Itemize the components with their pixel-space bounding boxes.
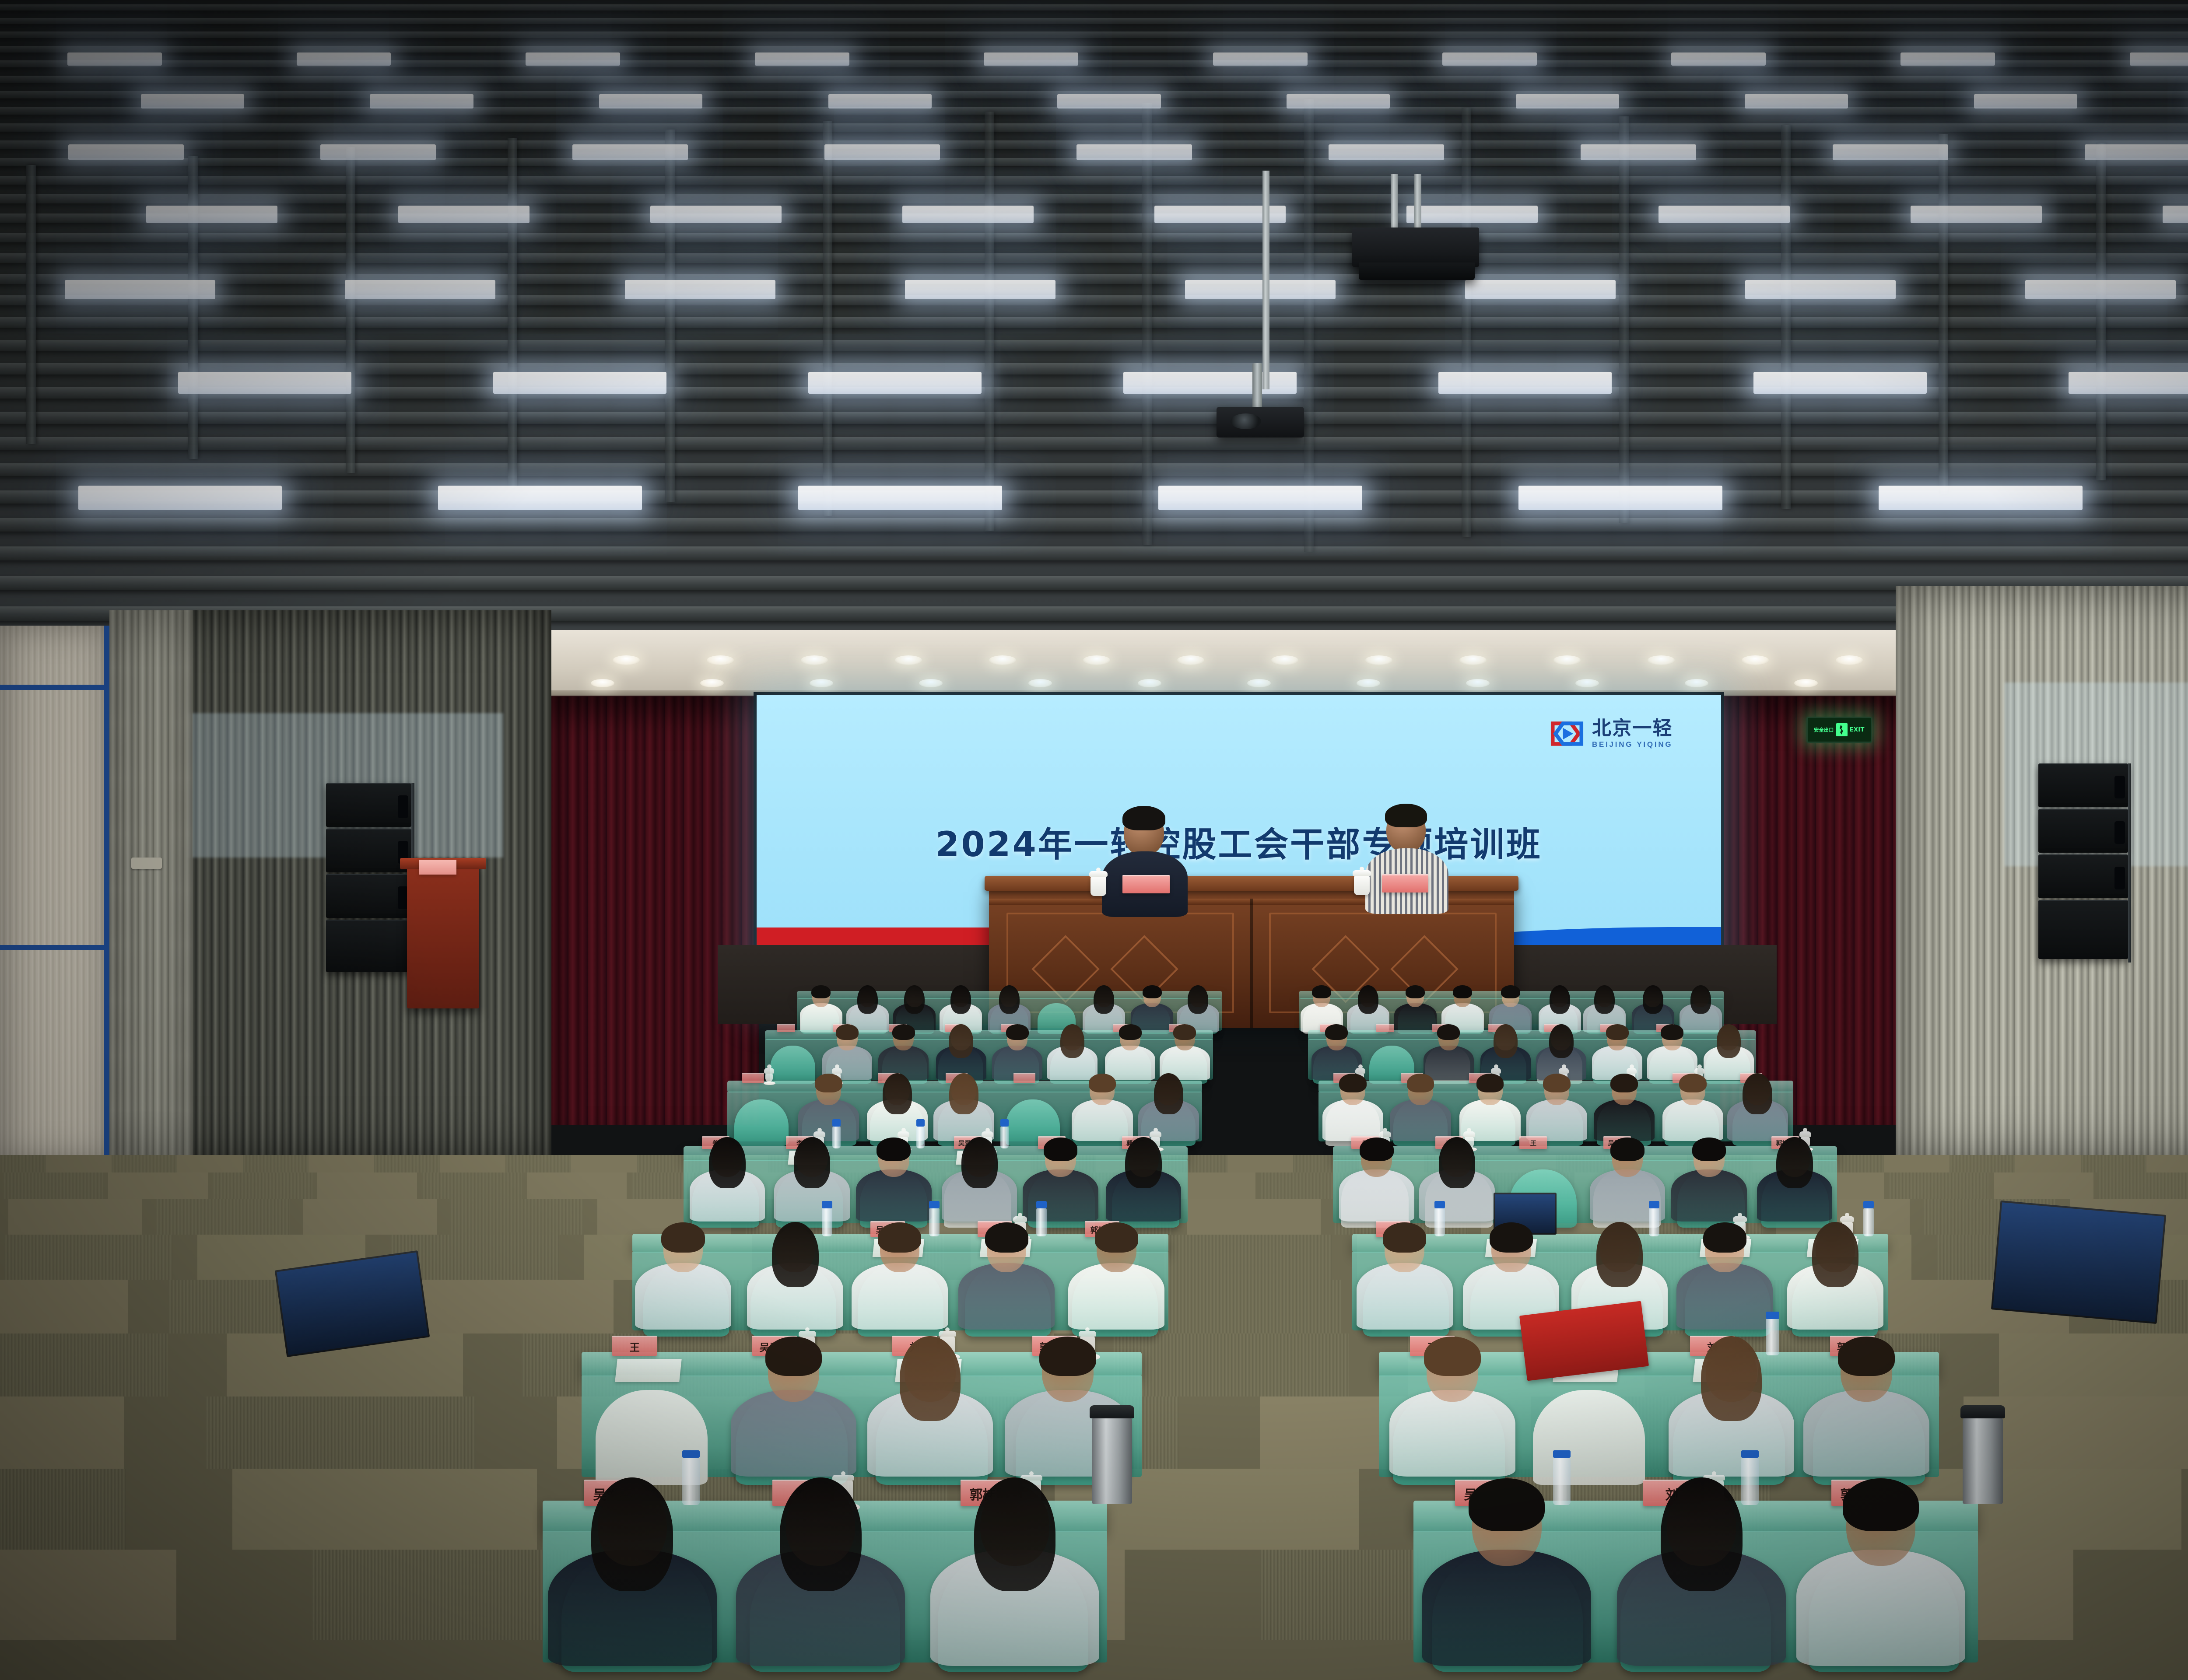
audience-hair [950,985,971,1014]
audience-hair [900,1336,961,1421]
exit-sign-label-en: EXIT [1850,727,1865,733]
ceiling-light-panel [572,144,688,160]
audience-body [1390,1099,1451,1141]
ceiling-light-panel [65,280,216,299]
carpet-tile [8,1199,142,1235]
ceiling-light-panel [1158,486,1362,510]
ceiling-light-panel [370,94,473,108]
teacup-knob [1630,1064,1634,1069]
audience-hair [811,985,831,998]
water-bottle-cap [832,1119,841,1127]
ceiling-slat [0,194,2188,203]
water-bottle-cap [916,1119,925,1127]
thermos-cap [1090,1405,1134,1418]
left-wall-blue-trim-top [0,685,109,690]
carpet-tile [4,1235,172,1279]
audience-hair [1006,1024,1029,1040]
ceiling-rib [26,165,36,444]
carpet-tile [177,1155,243,1172]
carpet-tile [232,1469,537,1550]
carpet-tile [3,1172,103,1199]
ceiling-slat [0,46,2188,53]
ceiling-slat [0,576,2188,590]
audience-body [1424,1046,1474,1080]
soffit-downlight [1357,679,1380,687]
audience-body [958,1263,1055,1330]
water-bottle [1741,1457,1759,1505]
water-bottle-cap [1000,1119,1009,1127]
audience-hair [1543,1074,1571,1093]
chair-white-cover [1533,1390,1645,1485]
audience-hair [1325,1024,1348,1040]
audience-hair [878,1222,921,1253]
water-bottle [1649,1207,1659,1236]
carpet-tile [1164,1235,1332,1279]
water-bottle [832,1126,841,1148]
carpet-tile [46,1155,112,1172]
audience-body [852,1263,948,1330]
carpet-tile [213,1172,312,1199]
ceiling-light-panel [146,206,277,223]
audience-hair [1703,1222,1746,1253]
carpet-tile [1113,1333,1349,1396]
teacup-knob [945,1327,950,1332]
speaker-stack-right [2038,763,2128,1008]
audience-body [1357,1263,1453,1330]
ceiling-light-panel [1518,486,1722,510]
audience-hair [772,1222,818,1287]
audience-body [1023,1169,1098,1221]
teacup-knob [1029,1471,1034,1476]
carpet-tile [440,1155,505,1172]
audience-hair [1439,1137,1475,1188]
thermos-flask [1092,1417,1132,1504]
speaker-stack-left [326,783,411,1028]
carpet-tile [1227,1155,1293,1172]
ceiling-light-panel [1753,372,1926,394]
teacup-lid [1840,1216,1854,1222]
teacup-knob [805,1327,810,1332]
yiqing-logo-mark [1550,717,1584,751]
curtain-tieback-left [131,857,162,869]
ceiling-rib [508,138,517,488]
ceiling-slat [0,18,2188,24]
water-bottle-cap [1649,1201,1659,1208]
teacup-lid [1733,1216,1747,1222]
presenter-placard-left [1122,875,1170,893]
audience-hair [1812,1222,1858,1287]
teacup-lid [1799,1131,1811,1137]
ceiling-light-panel [1076,144,1192,160]
teacup-knob [1697,1064,1702,1069]
ceiling-slat [0,233,2188,242]
soffit-downlight [1459,655,1487,665]
water-bottle [1553,1457,1571,1505]
audience-hair [1154,1073,1183,1114]
ceiling-light-panel [398,206,529,223]
teacup-lid [982,1131,993,1137]
audience-table [765,1030,1213,1040]
audience-hair [709,1137,745,1188]
audience-hair [857,985,878,1014]
audience-hair [1594,985,1615,1014]
carpet-tile [243,1155,309,1172]
ceiling-light-panel [493,372,666,394]
audience-hair [1453,985,1472,998]
ceiling-light-panel [1438,372,1611,394]
podium-seam [1250,899,1253,1028]
soffit-downlight [989,655,1016,665]
ceiling-light-panel [2025,280,2176,299]
soffit-downlight [613,655,640,665]
left-wall-blue-trim-bottom [0,945,109,950]
ceiling-slat [0,123,2188,131]
audience-hair [892,1024,915,1040]
audience-hair [794,1137,830,1188]
ceiling-light-panel [2085,144,2188,160]
ceiling-light-panel [984,52,1078,66]
audience-hair [1383,1222,1426,1253]
water-bottle-cap [1434,1201,1445,1208]
audience-hair [1060,1024,1085,1058]
audience-hair [1490,1222,1533,1253]
water-bottle [1000,1126,1009,1148]
ceiling-rib [1142,103,1152,545]
soffit-downlight [591,679,614,687]
ceiling-rib [2096,143,2106,480]
carpet-tile [0,1280,128,1333]
ceiling-light-panel [905,280,1056,299]
ceiling-rib [188,156,198,459]
carpet-tile [1994,1172,2093,1199]
soffit-downlight [919,679,943,687]
presenter-placard-right [1382,874,1428,892]
chair [770,1046,815,1084]
water-bottle-cap [929,1201,940,1208]
ceiling [0,0,2188,656]
teacup-knob [1562,1064,1566,1069]
teacup-knob [1085,1327,1090,1332]
ceiling-light-panel [141,94,244,108]
ceiling-light-panel [2069,372,2188,394]
ceiling-light-panel [297,52,391,66]
name-placard [1376,1024,1394,1032]
audience-hair [1406,985,1425,998]
right-laptop-screen [1993,1202,2164,1322]
audience-hair [1119,1024,1142,1040]
audience-body [798,1099,859,1141]
carpet-tile [303,1199,437,1235]
teacup-knob [1358,1064,1363,1069]
audience-body [856,1169,931,1221]
carpet-tile [206,1396,476,1469]
audience-hair [1095,1222,1138,1253]
audience-hair [1143,985,1162,998]
ceiling-rib [665,129,675,502]
audience-hair [1494,1024,1518,1058]
audience-body [1068,1263,1164,1330]
audience-body [1389,1390,1515,1477]
audience-hair [1125,1137,1161,1188]
ceiling-light-panel [824,144,940,160]
ceiling-light-panel [798,486,1002,510]
exit-sign: 安全出口 EXIT [1806,717,1872,743]
carpet-tile [505,1155,571,1172]
audience-body [1662,1099,1723,1141]
ceiling-light-panel [1671,52,1766,66]
soffit-downlight [1083,655,1110,665]
carpet-tile [2098,1172,2188,1199]
water-bottle-cap [822,1201,832,1208]
audience-hair [591,1477,673,1592]
audience-hair [904,985,925,1014]
ceiling-light-panel [438,486,642,510]
audience-hair [1339,1074,1367,1093]
audience-hair [877,1137,911,1161]
audience-body [731,1390,856,1477]
audience-hair [1701,1336,1762,1421]
audience-hair [1437,1024,1460,1040]
ceiling-light-panel [1745,280,1896,299]
audience-hair [1089,1074,1116,1093]
ceiling-light-panel [625,280,776,299]
logo-text-en: BEIJING YIQING [1592,741,1673,748]
ceiling-rib [1781,125,1791,508]
ceiling-slat [0,546,2188,560]
audience-table [1308,1030,1756,1040]
audience-hair [949,1073,978,1114]
carpet-tile [2081,1155,2146,1172]
logo-text-cn: 北京一轻 [1592,719,1673,738]
name-placard [1013,1073,1035,1083]
ceiling-rib [346,147,355,473]
carpet-tile [527,1172,627,1199]
ceiling-light-panel [902,206,1034,223]
water-bottle-cap [1036,1201,1047,1208]
teacup-knob [1494,1064,1498,1069]
soffit-downlight [810,679,833,687]
audience-hair [961,1137,998,1188]
audience-hair [1469,1478,1545,1531]
teacup-knob [841,1471,845,1476]
ceiling-light-panel [320,144,436,160]
audience-body [635,1263,731,1330]
audience-hair [1679,1074,1707,1093]
audience-hair [765,1337,822,1376]
ceiling-slat [0,4,2188,10]
carpet-tile [1187,1199,1321,1235]
carpet-tile [2146,1155,2188,1172]
ceiling-light-panel [1123,372,1296,394]
water-bottle-cap [682,1450,700,1458]
ceiling-slat [0,437,2188,449]
name-placard [777,1024,795,1032]
carpet-tile [1999,1333,2188,1396]
audience-hair [1843,1478,1919,1531]
water-bottle-cap [1553,1450,1571,1458]
soffit-downlight [1177,655,1204,665]
audience-hair [836,1024,859,1040]
carpet-tile [422,1172,522,1199]
water-bottle-cap [1863,1201,1874,1208]
audience-hair [1424,1337,1481,1376]
carpet-tile [1139,1280,1341,1333]
teacup-lid [898,1131,909,1137]
audience-body [1422,1550,1591,1666]
water-bottle-cap [1766,1312,1779,1319]
ceiling-light-panel [1185,280,1336,299]
audience-table [1333,1146,1837,1161]
presenter-cup-left [1090,876,1106,896]
water-bottle [1036,1207,1047,1236]
side-curtain-left-tied [109,610,193,1159]
audience-hair [1743,1073,1772,1114]
carpet-tile [309,1155,374,1172]
ceiling-light-panel [1911,206,2042,223]
ceiling-light-panel [1465,280,1616,299]
audience-body [1526,1099,1587,1141]
carpet-tile [2015,1155,2081,1172]
ceiling-rib [823,121,832,516]
audience-hair [815,1074,842,1093]
soffit-downlight [801,655,828,665]
soffit-downlight [1685,679,1708,687]
carpet-tile [156,1199,290,1235]
foreground-tablet-screen [277,1253,428,1355]
audience-hair [883,1073,912,1114]
carpet-tile [374,1155,440,1172]
ceiling-rib [1939,134,1948,494]
teacup-lid [1379,1131,1391,1137]
audience-hair [999,985,1020,1014]
audience-hair [1661,1024,1683,1040]
ceiling-light-panel [1879,486,2083,510]
audience-hair [974,1477,1056,1592]
ceiling-rib [985,112,994,531]
ceiling-light-panel [1406,206,1538,223]
audience-hair [1838,1337,1895,1376]
soffit-downlight [1247,679,1271,687]
carpet-tile [0,1469,126,1550]
audience-hair [1610,1137,1645,1161]
audience-hair [1094,985,1114,1014]
water-bottle [929,1207,940,1236]
audience-hair [780,1477,862,1592]
carpet-tile [1889,1172,1988,1199]
audience-body [1796,1550,1965,1666]
water-bottle [1434,1207,1445,1236]
carpet-tile [0,1550,176,1640]
soffit-downlight [1271,655,1298,665]
ceiling-light-panel [755,52,849,66]
audience-hair [1039,1337,1096,1376]
ceiling-light-panel [178,372,351,394]
carpet-tile [108,1172,208,1199]
teacup-lid [1463,1131,1475,1137]
carpet-tile [571,1155,637,1172]
audience-hair [1360,1137,1394,1161]
water-bottle [1766,1318,1779,1355]
running-person-icon [1836,723,1848,736]
document-paper [615,1359,682,1382]
teacup-lid [1013,1216,1027,1222]
ceiling-light-panel [1057,94,1161,108]
audience-hair [661,1222,705,1253]
soffit-downlight [1138,679,1161,687]
ceiling-slat [0,76,2188,83]
ceiling-light-panel [828,94,932,108]
teacup-knob [767,1064,771,1069]
soffit-downlight [1794,679,1818,687]
teacup-knob [1712,1471,1716,1476]
water-bottle-cap [1741,1450,1759,1458]
name-placard: 王 [1519,1136,1547,1149]
teacup-lid [1150,1131,1161,1137]
audience-hair [1606,1024,1629,1040]
soffit-downlight [1365,655,1392,665]
audience-hair [1776,1137,1813,1188]
carpet-tile [0,1333,168,1396]
ceiling-light-panel [1329,144,1444,160]
audience-hair [1188,985,1208,1014]
slide-title: 2024年一轻控股工会干部专题培训班 [757,817,1721,866]
stage-curtain-left [549,696,759,1125]
carpet-tile [411,1280,614,1333]
carpet-tile [450,1199,584,1235]
soffit-downlight [1648,655,1675,665]
yiqing-logo: 北京一轻 BEIJING YIQING [1550,717,1673,751]
ceiling-slat [0,518,2188,532]
soffit-downlight [1575,679,1599,687]
audience-body [1322,1099,1383,1141]
carpet-tile [112,1155,177,1172]
teacup-lid [813,1131,825,1137]
audience-hair [1312,985,1331,998]
soffit-downlight [1742,655,1769,665]
ceiling-light-panel [2163,206,2188,223]
audience-hair [1610,1074,1638,1093]
audience-hair [1643,985,1663,1014]
audience-body [1676,1263,1773,1330]
chair [734,1099,789,1146]
ceiling-rib [1462,108,1471,538]
ceiling-light-panel [1581,144,1696,160]
audience-body [1339,1169,1414,1221]
audience-hair [1476,1074,1504,1093]
right-laptop [1991,1200,2166,1324]
carpet-tile [317,1172,417,1199]
audience-body [1072,1099,1133,1141]
ceiling-light-panel [67,52,162,66]
ceiling-light-panel [68,144,184,160]
carpet-tile [1884,1155,1950,1172]
audience-hair [985,1222,1028,1253]
water-bottle [822,1207,832,1236]
carpet-tile [0,1155,46,1172]
presenter-cup-right [1354,875,1370,895]
carpet-tile [1950,1155,2015,1172]
audience-hair [1717,1024,1741,1058]
ceiling-slat [0,253,2188,263]
ceiling-light-panel [599,94,702,108]
exit-sign-label-cn: 安全出口 [1814,726,1834,733]
ceiling-light-panel [1213,52,1308,66]
water-bottle [1863,1207,1874,1236]
audience-body [1803,1390,1929,1477]
audience-hair [1550,985,1570,1014]
name-placard [742,1073,764,1083]
audience-hair [1358,985,1378,1014]
